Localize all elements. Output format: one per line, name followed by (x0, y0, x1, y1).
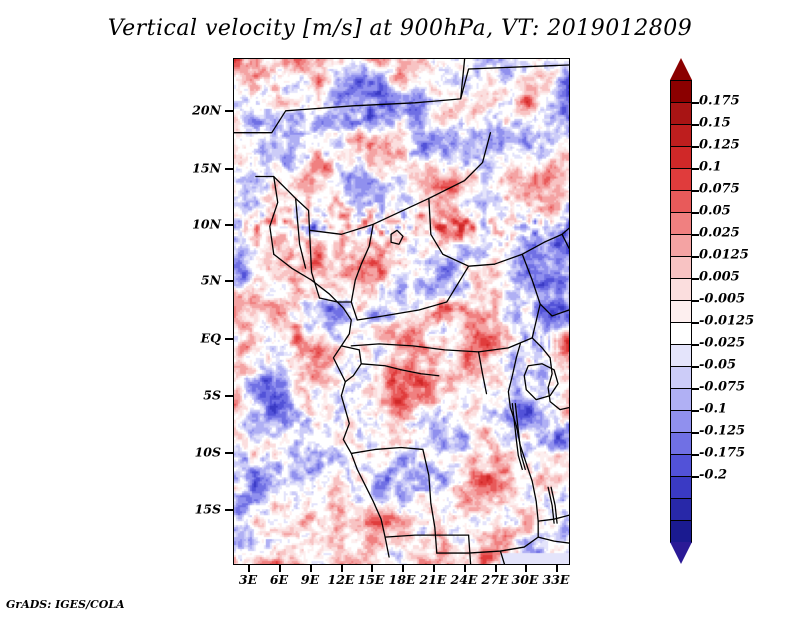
colorbar-tick-label: -0.175 (699, 446, 745, 461)
x-tick-mark (464, 565, 466, 572)
x-tick-label-21E: 21E (420, 572, 447, 587)
x-tick-mark (556, 565, 558, 572)
colorbar-tick-label: -0.2 (699, 468, 727, 483)
x-tick-mark (279, 565, 281, 572)
x-tick-mark (310, 565, 312, 572)
colorbar-tick-mark (692, 344, 699, 346)
country-borders-overlay (234, 59, 569, 564)
colorbar-tick-label: 0.05 (699, 204, 731, 219)
y-tick-label-5S: 5S (175, 388, 221, 403)
map-plot-area (233, 58, 570, 565)
y-tick-label-15S: 15S (175, 502, 221, 517)
colorbar-tick-mark (692, 300, 699, 302)
colorbar-band (670, 124, 692, 147)
x-tick-label-27E: 27E (482, 572, 509, 587)
colorbar-tick-label: -0.125 (699, 424, 745, 439)
colorbar-tick-mark (692, 432, 699, 434)
colorbar-band (670, 300, 692, 323)
colorbar (670, 58, 692, 564)
x-tick-label-30E: 30E (512, 572, 539, 587)
colorbar-tick-mark (692, 454, 699, 456)
colorbar-tick-mark (692, 146, 699, 148)
x-tick-label-15E: 15E (358, 572, 385, 587)
colorbar-bottom-arrow (670, 542, 692, 564)
y-tick-mark (225, 280, 233, 282)
colorbar-tick-mark (692, 256, 699, 258)
colorbar-band (670, 322, 692, 345)
y-tick-mark (225, 168, 233, 170)
colorbar-tick-label: 0.0125 (699, 248, 749, 263)
footer-credit: GrADS: IGES/COLA (6, 598, 125, 611)
x-tick-label-18E: 18E (389, 572, 416, 587)
x-tick-label-6E: 6E (270, 572, 288, 587)
colorbar-band (670, 80, 692, 103)
colorbar-tick-mark (692, 278, 699, 280)
colorbar-tick-mark (692, 168, 699, 170)
colorbar-tick-mark (692, 102, 699, 104)
colorbar-tick-label: 0.175 (699, 94, 740, 109)
colorbar-tick-mark (692, 476, 699, 478)
colorbar-tick-mark (692, 212, 699, 214)
colorbar-band (670, 476, 692, 499)
colorbar-band (670, 432, 692, 455)
x-tick-mark (341, 565, 343, 572)
x-tick-mark (433, 565, 435, 572)
colorbar-tick-mark (692, 234, 699, 236)
colorbar-tick-label: 0.15 (699, 116, 731, 131)
colorbar-tick-mark (692, 410, 699, 412)
y-tick-mark (225, 395, 233, 397)
colorbar-tick-label: -0.1 (699, 402, 727, 417)
y-tick-label-10N: 10N (175, 217, 221, 232)
colorbar-band (670, 498, 692, 521)
y-tick-mark (225, 110, 233, 112)
y-tick-label-5N: 5N (175, 273, 221, 288)
x-tick-label-12E: 12E (328, 572, 355, 587)
colorbar-band (670, 366, 692, 389)
colorbar-band (670, 388, 692, 411)
x-tick-label-24E: 24E (451, 572, 478, 587)
colorbar-tick-mark (692, 388, 699, 390)
colorbar-top-arrow (670, 58, 692, 80)
colorbar-band (670, 278, 692, 301)
colorbar-band (670, 520, 692, 543)
colorbar-band (670, 190, 692, 213)
colorbar-band (670, 344, 692, 367)
y-tick-label-EQ: EQ (175, 331, 221, 346)
colorbar-tick-label: 0.1 (699, 160, 722, 175)
colorbar-band (670, 410, 692, 433)
colorbar-tick-label: -0.025 (699, 336, 745, 351)
colorbar-tick-label: 0.005 (699, 270, 740, 285)
x-tick-label-9E: 9E (301, 572, 319, 587)
colorbar-tick-mark (692, 124, 699, 126)
colorbar-tick-mark (692, 322, 699, 324)
y-tick-label-15N: 15N (175, 161, 221, 176)
colorbar-tick-label: 0.075 (699, 182, 740, 197)
x-tick-mark (525, 565, 527, 572)
colorbar-tick-mark (692, 190, 699, 192)
page-title: Vertical velocity [m/s] at 900hPa, VT: 2… (0, 16, 800, 41)
x-tick-mark (495, 565, 497, 572)
colorbar-tick-label: -0.05 (699, 358, 736, 373)
x-tick-label-3E: 3E (239, 572, 257, 587)
y-tick-label-10S: 10S (175, 445, 221, 460)
x-tick-mark (402, 565, 404, 572)
colorbar-band (670, 102, 692, 125)
y-tick-mark (225, 452, 233, 454)
colorbar-tick-label: -0.075 (699, 380, 745, 395)
y-tick-mark (225, 509, 233, 511)
y-tick-mark (225, 224, 233, 226)
colorbar-band (670, 212, 692, 235)
colorbar-band (670, 168, 692, 191)
colorbar-band (670, 146, 692, 169)
y-tick-label-20N: 20N (175, 103, 221, 118)
colorbar-tick-mark (692, 366, 699, 368)
y-tick-mark (225, 338, 233, 340)
colorbar-tick-label: 0.025 (699, 226, 740, 241)
colorbar-tick-label: 0.125 (699, 138, 740, 153)
x-tick-mark (371, 565, 373, 572)
colorbar-tick-label: -0.0125 (699, 314, 754, 329)
x-tick-label-33E: 33E (543, 572, 570, 587)
colorbar-tick-label: -0.005 (699, 292, 745, 307)
x-tick-mark (248, 565, 250, 572)
colorbar-band (670, 234, 692, 257)
colorbar-band (670, 454, 692, 477)
colorbar-band (670, 256, 692, 279)
